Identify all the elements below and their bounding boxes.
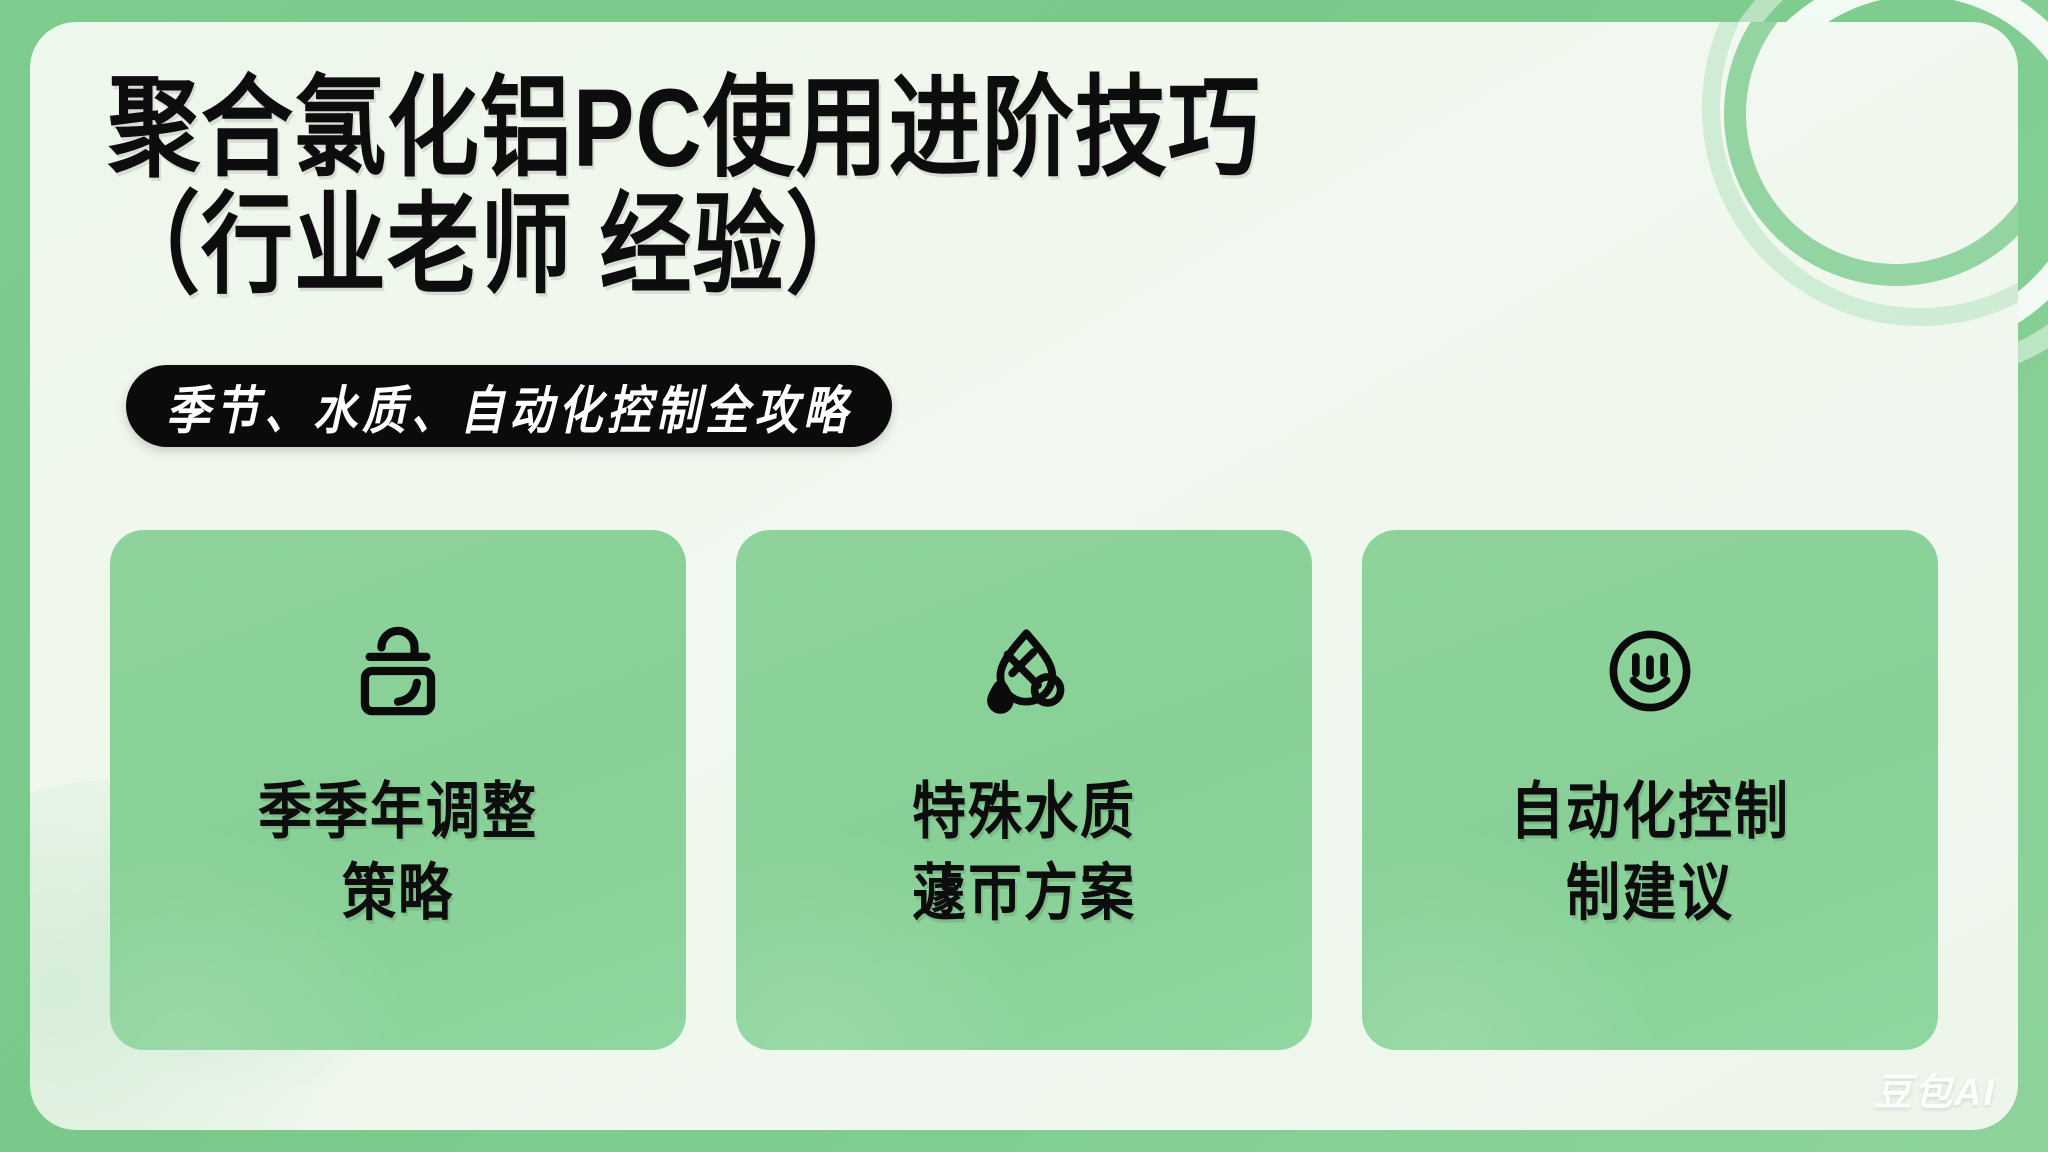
card2-label-line1: 特殊水质 — [912, 771, 1136, 853]
feature-card-seasonal[interactable]: 季季年调整 策略 — [110, 530, 686, 1050]
water-droplet-icon — [949, 596, 1099, 746]
card2-label-line2: 蘧帀方案 — [912, 853, 1136, 935]
subtitle-pill: 季节、水质、自动化控制全攻略 — [126, 365, 892, 447]
decorative-ring-inner — [1724, 22, 2018, 286]
feature-card-seasonal-label: 季季年调整 策略 — [258, 771, 538, 935]
padlock-gauge-icon — [323, 596, 473, 746]
feature-card-water-quality-label: 特殊水质 蘧帀方案 — [912, 771, 1136, 935]
feature-card-automation[interactable]: 自动化控制 制建议 — [1362, 530, 1938, 1050]
title-line-2: （行业老师 经验） — [108, 187, 1748, 306]
title-line-1: 聚合氯化铝PC使用进阶技巧 — [108, 70, 1748, 189]
poster-inner-surface: 聚合氯化铝PC使用进阶技巧 （行业老师 经验） 季节、水质、自动化控制全攻略 — [30, 22, 2018, 1130]
card1-label-line1: 季季年调整 — [258, 771, 538, 853]
page-title: 聚合氯化铝PC使用进阶技巧 （行业老师 经验） — [108, 70, 1748, 287]
subtitle-pill-text: 季节、水质、自动化控制全攻略 — [166, 368, 852, 444]
watermark-doubao-ai: 豆包AI — [1874, 1061, 1996, 1116]
card3-label-line1: 自动化控制 — [1510, 771, 1790, 853]
feature-card-automation-label: 自动化控制 制建议 — [1510, 771, 1790, 935]
card3-label-line2: 制建议 — [1510, 853, 1790, 935]
smiley-face-icon — [1575, 596, 1725, 746]
card1-label-line2: 策略 — [258, 853, 538, 935]
poster-root: 聚合氯化铝PC使用进阶技巧 （行业老师 经验） 季节、水质、自动化控制全攻略 — [0, 0, 2048, 1152]
feature-card-water-quality[interactable]: 特殊水质 蘧帀方案 — [736, 530, 1312, 1050]
decorative-ring-outer — [1702, 22, 2018, 326]
feature-card-row: 季季年调整 策略 特殊水质 蘧帀方案 — [110, 530, 1938, 1050]
